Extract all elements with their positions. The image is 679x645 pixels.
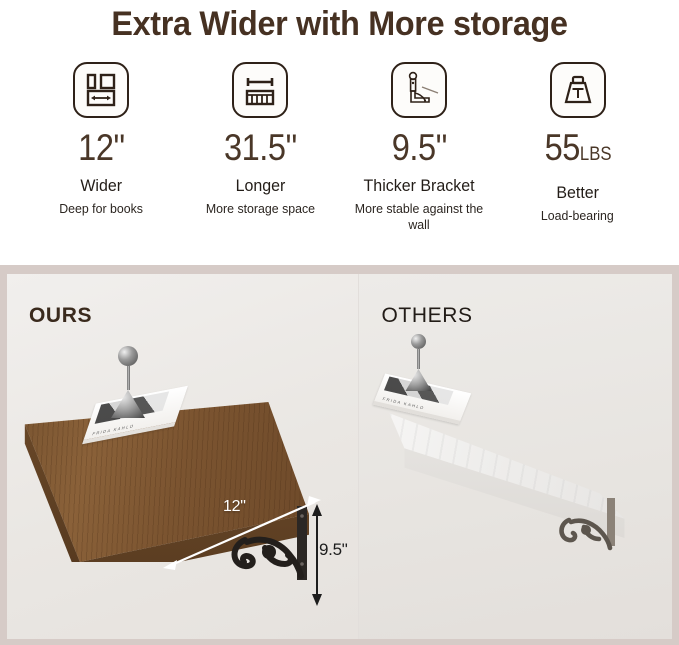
- lamp-ball: [118, 346, 138, 366]
- lamp-stem: [417, 349, 420, 369]
- feature-value: 12": [78, 128, 124, 168]
- feature-title: Wider: [81, 175, 123, 197]
- feature-value-number: 12: [78, 127, 113, 168]
- feature-value-unit: ": [435, 127, 446, 168]
- depth-dimension-label: 12": [223, 498, 246, 516]
- feature-item-bracket: 9.5" Thicker Bracket More stable against…: [340, 62, 499, 233]
- feature-row: 12" Wider Deep for books 31.5" Longer Mo…: [0, 46, 679, 233]
- book-cover-title: FRIDA KAHLO: [92, 423, 136, 436]
- comparison-panel: OURS FRIDA KAHLO: [0, 265, 679, 645]
- feature-item-load: 55LBS Better Load-bearing: [498, 62, 657, 233]
- feature-value-number: 31.5: [224, 127, 286, 168]
- bracket-icon: [391, 62, 447, 118]
- page-title: Extra Wider with More storage: [17, 0, 662, 46]
- feature-subtitle: More stable against the wall: [348, 201, 491, 233]
- feature-value-unit: LBS: [579, 144, 611, 165]
- feature-value-number: 9.5: [391, 127, 435, 168]
- lamp-stem: [127, 366, 130, 390]
- bracket-height-dimension-label: 9.5": [319, 540, 347, 560]
- feature-item-wider: 12" Wider Deep for books: [22, 62, 181, 233]
- comparison-panes: OURS FRIDA KAHLO: [7, 274, 672, 639]
- feature-value-number: 55: [544, 127, 579, 168]
- decor-lamp: [111, 346, 145, 418]
- feature-subtitle: More storage space: [206, 201, 315, 217]
- lamp-base: [405, 369, 431, 391]
- decor-lamp: [405, 334, 431, 391]
- ornate-bracket: [555, 498, 633, 575]
- lamp-ball: [411, 334, 426, 349]
- feature-value: 55LBS: [544, 128, 611, 175]
- feature-title: Thicker Bracket: [363, 175, 474, 197]
- feature-subtitle: Load-bearing: [541, 208, 614, 224]
- feature-value: 9.5": [391, 128, 446, 168]
- comparison-pane-ours: OURS FRIDA KAHLO: [7, 274, 358, 639]
- lamp-base: [111, 390, 145, 418]
- feature-title: Longer: [235, 175, 285, 197]
- feature-value-unit: ": [285, 127, 296, 168]
- others-product-photo: FRIDA KAHLO: [359, 274, 672, 639]
- ours-product-photo: FRIDA KAHLO: [7, 274, 358, 639]
- shelf-width-icon: [73, 62, 129, 118]
- feature-value-unit: ": [113, 127, 124, 168]
- weight-icon: [550, 62, 606, 118]
- comparison-pane-others: OTHERS FRIDA KAHLO: [358, 274, 672, 639]
- ruler-icon: [232, 62, 288, 118]
- feature-item-longer: 31.5" Longer More storage space: [181, 62, 340, 233]
- feature-value: 31.5": [224, 128, 297, 168]
- feature-title: Better: [556, 182, 599, 204]
- feature-subtitle: Deep for books: [59, 201, 143, 217]
